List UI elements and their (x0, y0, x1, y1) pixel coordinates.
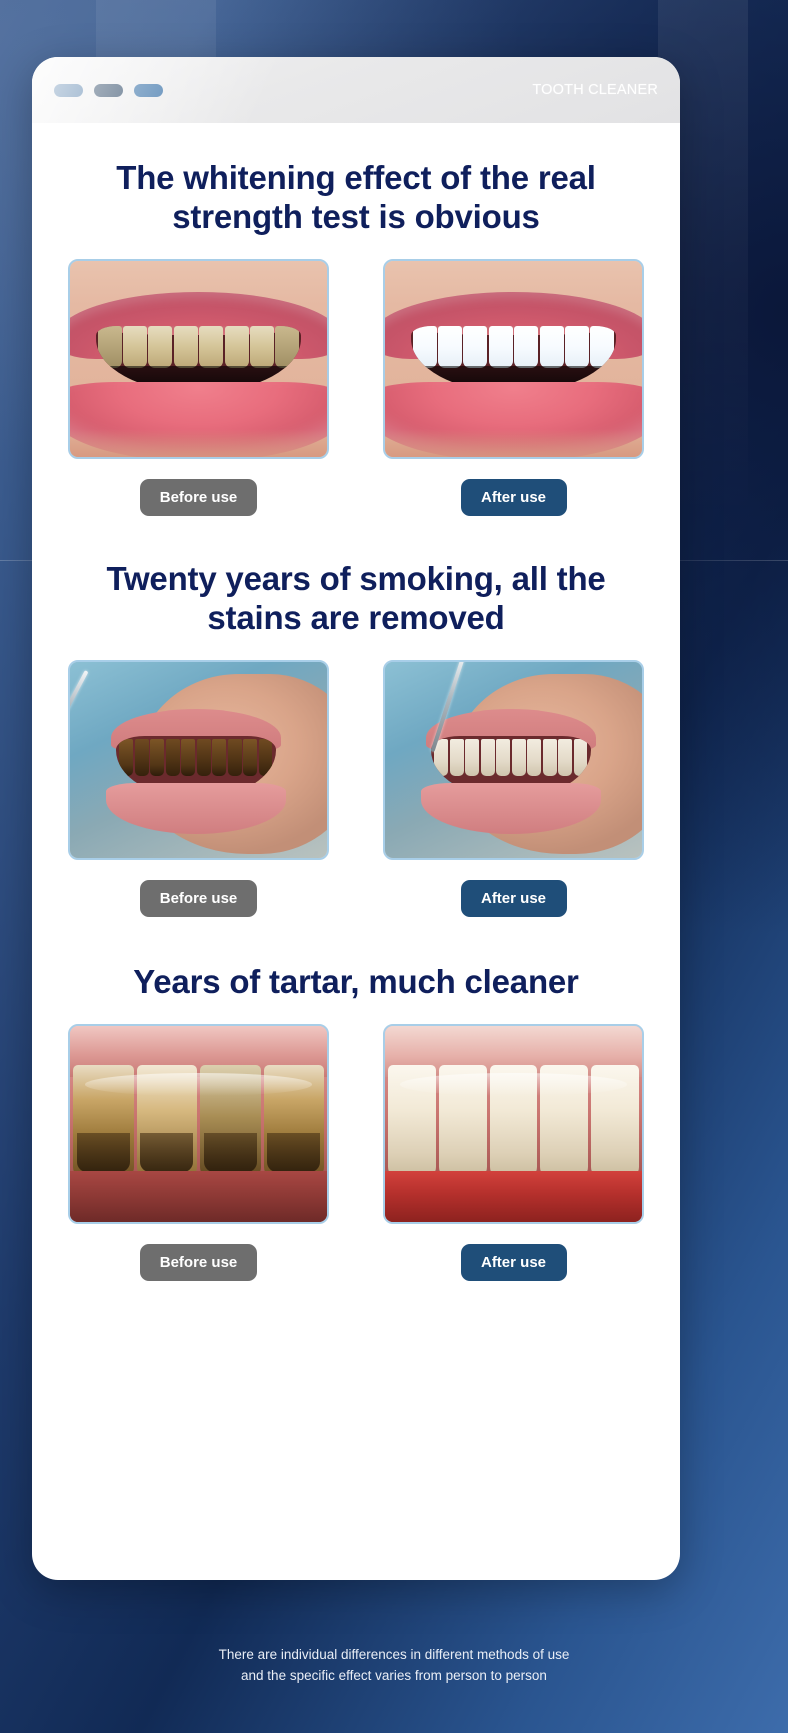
product-card: TOOTH CLEANER The whitening effect of th… (32, 57, 680, 1580)
section-tartar: Years of tartar, much cleaner Before use (32, 917, 680, 1281)
after-photo-whitening (383, 259, 644, 459)
section-smoking-stains: Twenty years of smoking, all the stains … (32, 516, 680, 917)
after-column: After use (383, 660, 644, 917)
footer-line-1: There are individual differences in diff… (0, 1645, 788, 1666)
after-use-button[interactable]: After use (461, 479, 567, 516)
macro-clean-illustration (385, 1026, 642, 1222)
before-photo-tartar (68, 1024, 329, 1224)
window-titlebar: TOOTH CLEANER (32, 57, 680, 123)
section-heading: Years of tartar, much cleaner (68, 963, 644, 1002)
smile-white-illustration (385, 261, 642, 457)
before-after-pair: Before use After use (68, 1024, 644, 1281)
before-after-pair: Before use (68, 660, 644, 917)
after-use-button[interactable]: After use (461, 880, 567, 917)
before-after-pair: Before use (68, 259, 644, 516)
after-column: After use (383, 259, 644, 516)
before-use-button[interactable]: Before use (140, 479, 258, 516)
nav-pill-icon-3[interactable] (134, 84, 163, 97)
after-photo-tartar (383, 1024, 644, 1224)
before-column: Before use (68, 660, 329, 917)
footer-disclaimer: There are individual differences in diff… (0, 1645, 788, 1687)
section-heading: The whitening effect of the real strengt… (76, 159, 636, 237)
sections-container: The whitening effect of the real strengt… (32, 123, 680, 1355)
window-controls[interactable] (54, 84, 163, 97)
before-photo-smoking (68, 660, 329, 860)
before-column: Before use (68, 1024, 329, 1281)
card-bottom-spacer (32, 1281, 680, 1355)
before-photo-whitening (68, 259, 329, 459)
after-column: After use (383, 1024, 644, 1281)
nav-pill-icon-2[interactable] (94, 84, 123, 97)
before-column: Before use (68, 259, 329, 516)
after-photo-smoking (383, 660, 644, 860)
nav-pill-icon-1[interactable] (54, 84, 83, 97)
clinical-stained-illustration (70, 662, 327, 858)
brand-title: TOOTH CLEANER (532, 82, 658, 98)
before-use-button[interactable]: Before use (140, 880, 258, 917)
after-use-button[interactable]: After use (461, 1244, 567, 1281)
smile-stained-illustration (70, 261, 327, 457)
footer-line-2: and the specific effect varies from pers… (0, 1666, 788, 1687)
macro-tartar-illustration (70, 1026, 327, 1222)
clinical-cleaned-illustration (385, 662, 642, 858)
before-use-button[interactable]: Before use (140, 1244, 258, 1281)
section-whitening: The whitening effect of the real strengt… (32, 123, 680, 516)
section-heading: Twenty years of smoking, all the stains … (76, 560, 636, 638)
